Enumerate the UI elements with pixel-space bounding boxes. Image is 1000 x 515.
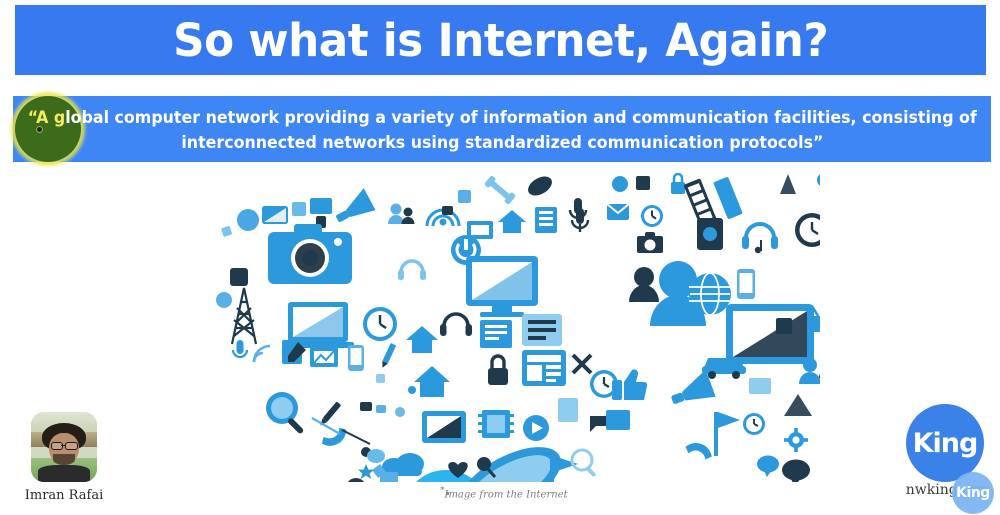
brand-mini-logo-text: King bbox=[956, 486, 990, 500]
avatar-glasses-right bbox=[65, 442, 78, 450]
avatar bbox=[31, 412, 97, 482]
icon-search bbox=[266, 392, 304, 435]
slide-canvas: So what is Internet, Again? “A global co… bbox=[0, 0, 1000, 515]
icon-tablet bbox=[726, 304, 814, 364]
icon-home bbox=[498, 210, 526, 233]
quote-highlight: “A g bbox=[27, 108, 64, 127]
quote-line-2: interconnected networks using standardiz… bbox=[181, 130, 823, 155]
brand-logo-circle[interactable]: King bbox=[906, 404, 984, 482]
icon-clock bbox=[363, 307, 397, 341]
presenter-block: Imran Rafai bbox=[14, 412, 114, 503]
quote-line-1-rest: lobal computer network providing a varie… bbox=[65, 108, 977, 127]
icon-globe bbox=[689, 273, 731, 315]
caption-text: Image from the Internet bbox=[445, 489, 568, 500]
icon-thumbs-up bbox=[612, 369, 647, 400]
quote-line-1: “A global computer network providing a v… bbox=[27, 105, 976, 130]
map-region-central-america bbox=[312, 418, 424, 476]
brand-mini-logo-circle: King bbox=[952, 472, 994, 514]
avatar-torso bbox=[38, 465, 91, 482]
map-region-europe-africa bbox=[406, 176, 820, 482]
world-map-svg bbox=[200, 172, 820, 482]
icon-camera bbox=[268, 224, 352, 284]
avatar-glasses-bridge bbox=[61, 445, 65, 447]
slide-title: So what is Internet, Again? bbox=[173, 18, 828, 63]
world-map-icon-collage bbox=[200, 172, 820, 482]
icon-monitor bbox=[466, 256, 538, 317]
brand-logo-text: King bbox=[913, 430, 978, 457]
map-source-caption: *Image from the Internet bbox=[440, 486, 568, 500]
slide-title-bar: So what is Internet, Again? bbox=[15, 5, 986, 75]
brand-logo-block[interactable]: King nwking.org King bbox=[900, 404, 992, 509]
presenter-name: Imran Rafai bbox=[14, 488, 114, 503]
map-region-top-right bbox=[780, 173, 820, 194]
definition-quote-text: “A global computer network providing a v… bbox=[13, 96, 991, 162]
definition-quote-bar: “A global computer network providing a v… bbox=[13, 96, 991, 162]
map-region-asia-pacific bbox=[680, 388, 820, 482]
